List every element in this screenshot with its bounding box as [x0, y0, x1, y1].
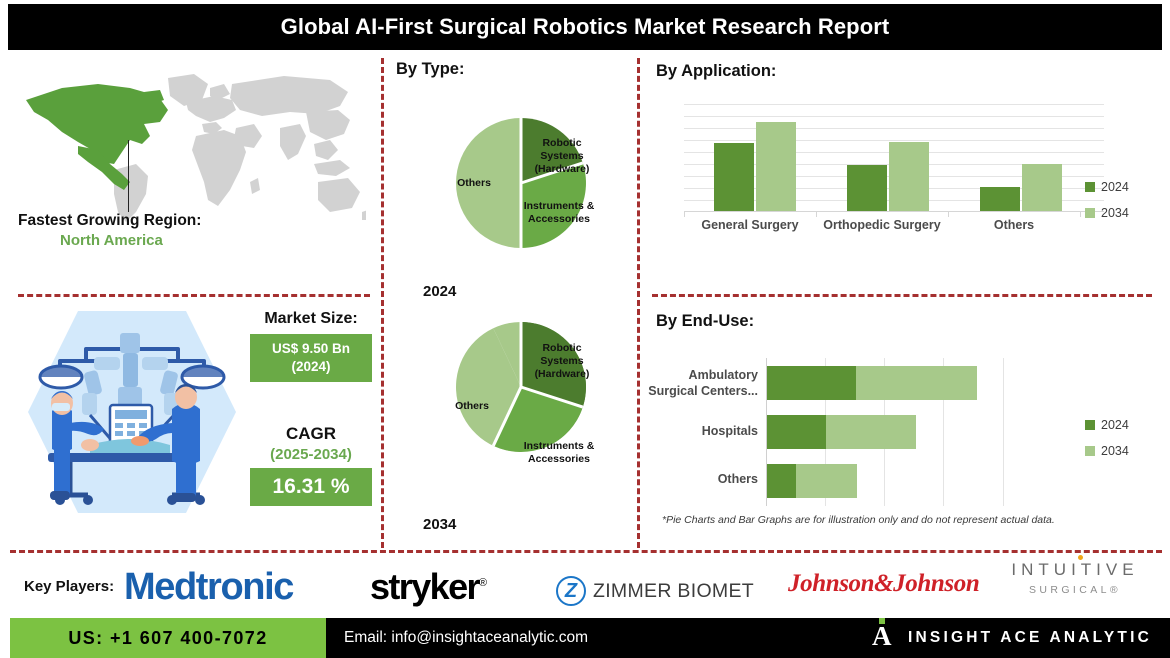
logo-stryker: stryker® — [370, 566, 485, 608]
cagr-label: CAGR — [246, 424, 376, 444]
pie-2034-year: 2034 — [423, 516, 456, 533]
application-bar-chart — [684, 104, 1104, 212]
logo-medtronic: Medtronic — [124, 566, 293, 609]
ytick-ambulatory-surgical-centers: Ambulatory Surgical Centers... — [646, 368, 758, 399]
logo-johnson-and-johnson: Johnson&Johnson — [788, 570, 979, 598]
logo-zimmer-text: ZIMMER BIOMET — [593, 580, 754, 603]
pie-2034-label-others: Others — [442, 400, 502, 413]
footer-bar: Email: info@insightaceanalytic.com A INS… — [326, 618, 1170, 658]
gridline — [684, 116, 1104, 117]
divider-horizontal-bottom — [10, 550, 1162, 553]
gridline — [684, 140, 1104, 141]
gridline — [684, 128, 1104, 129]
legend-swatch-icon — [1085, 182, 1095, 192]
bar-others-2024 — [980, 187, 1020, 211]
logo-intuitive-top: INTUITIVE — [1000, 560, 1150, 580]
market-size-label: Market Size: — [246, 310, 376, 328]
axis-tick — [1080, 212, 1081, 217]
divider-horizontal-right — [652, 294, 1152, 297]
page-title: Global AI-First Surgical Robotics Market… — [8, 4, 1162, 50]
fastest-growing-region-label: Fastest Growing Region: — [18, 212, 366, 230]
bar-enduse-others-2024 — [767, 464, 796, 498]
cagr-years: (2025-2034) — [246, 446, 376, 463]
logo-intuitive-surgical: INTUITIVE SURGICAL® — [1000, 560, 1150, 596]
legend-label-2034: 2034 — [1101, 444, 1129, 458]
legend-item-2034: 2034 — [1085, 444, 1129, 458]
map-leader-line — [128, 140, 129, 212]
intuitive-dot-icon — [1078, 555, 1083, 560]
by-type-heading: By Type: — [396, 60, 464, 79]
bar-hospitals-2024 — [767, 415, 826, 449]
legend-swatch-icon — [1085, 420, 1095, 430]
bar-ambulatory-2034 — [856, 366, 977, 400]
legend-swatch-icon — [1085, 208, 1095, 218]
pie-2034-label-instruments: Instruments & Accessories — [514, 440, 604, 466]
bar-ambulatory-2024 — [767, 366, 856, 400]
bar-others-2034 — [1022, 164, 1062, 211]
legend-label-2024: 2024 — [1101, 418, 1129, 432]
surgical-robot-illustration — [24, 305, 240, 520]
cagr-value-box: 16.31 % — [250, 468, 372, 506]
insightace-logo-icon: A — [872, 623, 894, 653]
pie-2024-label-others: Others — [444, 177, 504, 190]
pie-2024-label-instruments: Instruments & Accessories — [514, 200, 604, 226]
gridline — [684, 104, 1104, 105]
enduse-chart-legend: 2024 2034 — [1085, 418, 1129, 470]
footer-brand-text: INSIGHT ACE ANALYTIC — [908, 629, 1152, 647]
ytick-enduse-others: Others — [646, 472, 758, 488]
bar-orthopedic-surgery-2034 — [889, 142, 929, 211]
legend-swatch-icon — [1085, 446, 1095, 456]
bar-orthopedic-surgery-2024 — [847, 165, 887, 211]
legend-item-2024: 2024 — [1085, 180, 1129, 194]
market-size-year: (2024) — [291, 358, 330, 376]
axis-tick — [684, 212, 685, 217]
pie-2024-label-robotic: Robotic Systems (Hardware) — [524, 137, 600, 176]
market-size-box: US$ 9.50 Bn (2024) — [250, 334, 372, 382]
by-application-heading: By Application: — [656, 62, 776, 81]
legend-item-2024: 2024 — [1085, 418, 1129, 432]
by-enduse-heading: By End-Use: — [656, 312, 754, 331]
brand-dot-icon — [879, 618, 885, 624]
divider-vertical-left — [381, 58, 384, 548]
zimmer-z-icon: Z — [556, 576, 586, 606]
key-players-label: Key Players: — [24, 578, 114, 595]
bar-hospitals-2034 — [826, 415, 916, 449]
legend-label-2024: 2024 — [1101, 180, 1129, 194]
infographic-root: Global AI-First Surgical Robotics Market… — [0, 0, 1170, 658]
legend-item-2034: 2034 — [1085, 206, 1129, 220]
footer-brand: A INSIGHT ACE ANALYTIC — [872, 623, 1152, 653]
bar-general-surgery-2024 — [714, 143, 754, 211]
world-map — [18, 66, 366, 226]
ytick-hospitals: Hospitals — [646, 424, 758, 440]
gridline — [1003, 358, 1004, 506]
market-size-value: US$ 9.50 Bn — [272, 340, 350, 358]
axis-tick — [948, 212, 949, 217]
x-axis — [684, 211, 1104, 212]
divider-horizontal-left — [18, 294, 370, 297]
enduse-bar-chart — [766, 358, 1006, 506]
logo-stryker-text: stryker — [370, 566, 479, 607]
divider-vertical-right — [637, 58, 640, 548]
axis-tick — [816, 212, 817, 217]
xtick-others: Others — [948, 218, 1080, 232]
footer-phone: US: +1 607 400-7072 — [10, 618, 326, 658]
brand-a-glyph: A — [872, 621, 892, 651]
fastest-growing-region-value: North America — [18, 232, 366, 249]
logo-intuitive-bottom: SURGICAL® — [1000, 584, 1150, 596]
chart-footnote: *Pie Charts and Bar Graphs are for illus… — [662, 514, 1122, 526]
logo-zimmer-biomet: Z ZIMMER BIOMET — [556, 576, 754, 606]
pie-2024-year: 2024 — [423, 283, 456, 300]
xtick-general-surgery: General Surgery — [684, 218, 816, 232]
xtick-orthopedic-surgery: Orthopedic Surgery — [816, 218, 948, 232]
bar-enduse-others-2034 — [796, 464, 857, 498]
bar-general-surgery-2034 — [756, 122, 796, 211]
footer-email: Email: info@insightaceanalytic.com — [344, 629, 588, 647]
pie-2034-label-robotic: Robotic Systems (Hardware) — [524, 342, 600, 381]
legend-label-2034: 2034 — [1101, 206, 1129, 220]
application-chart-legend: 2024 2034 — [1085, 180, 1129, 232]
